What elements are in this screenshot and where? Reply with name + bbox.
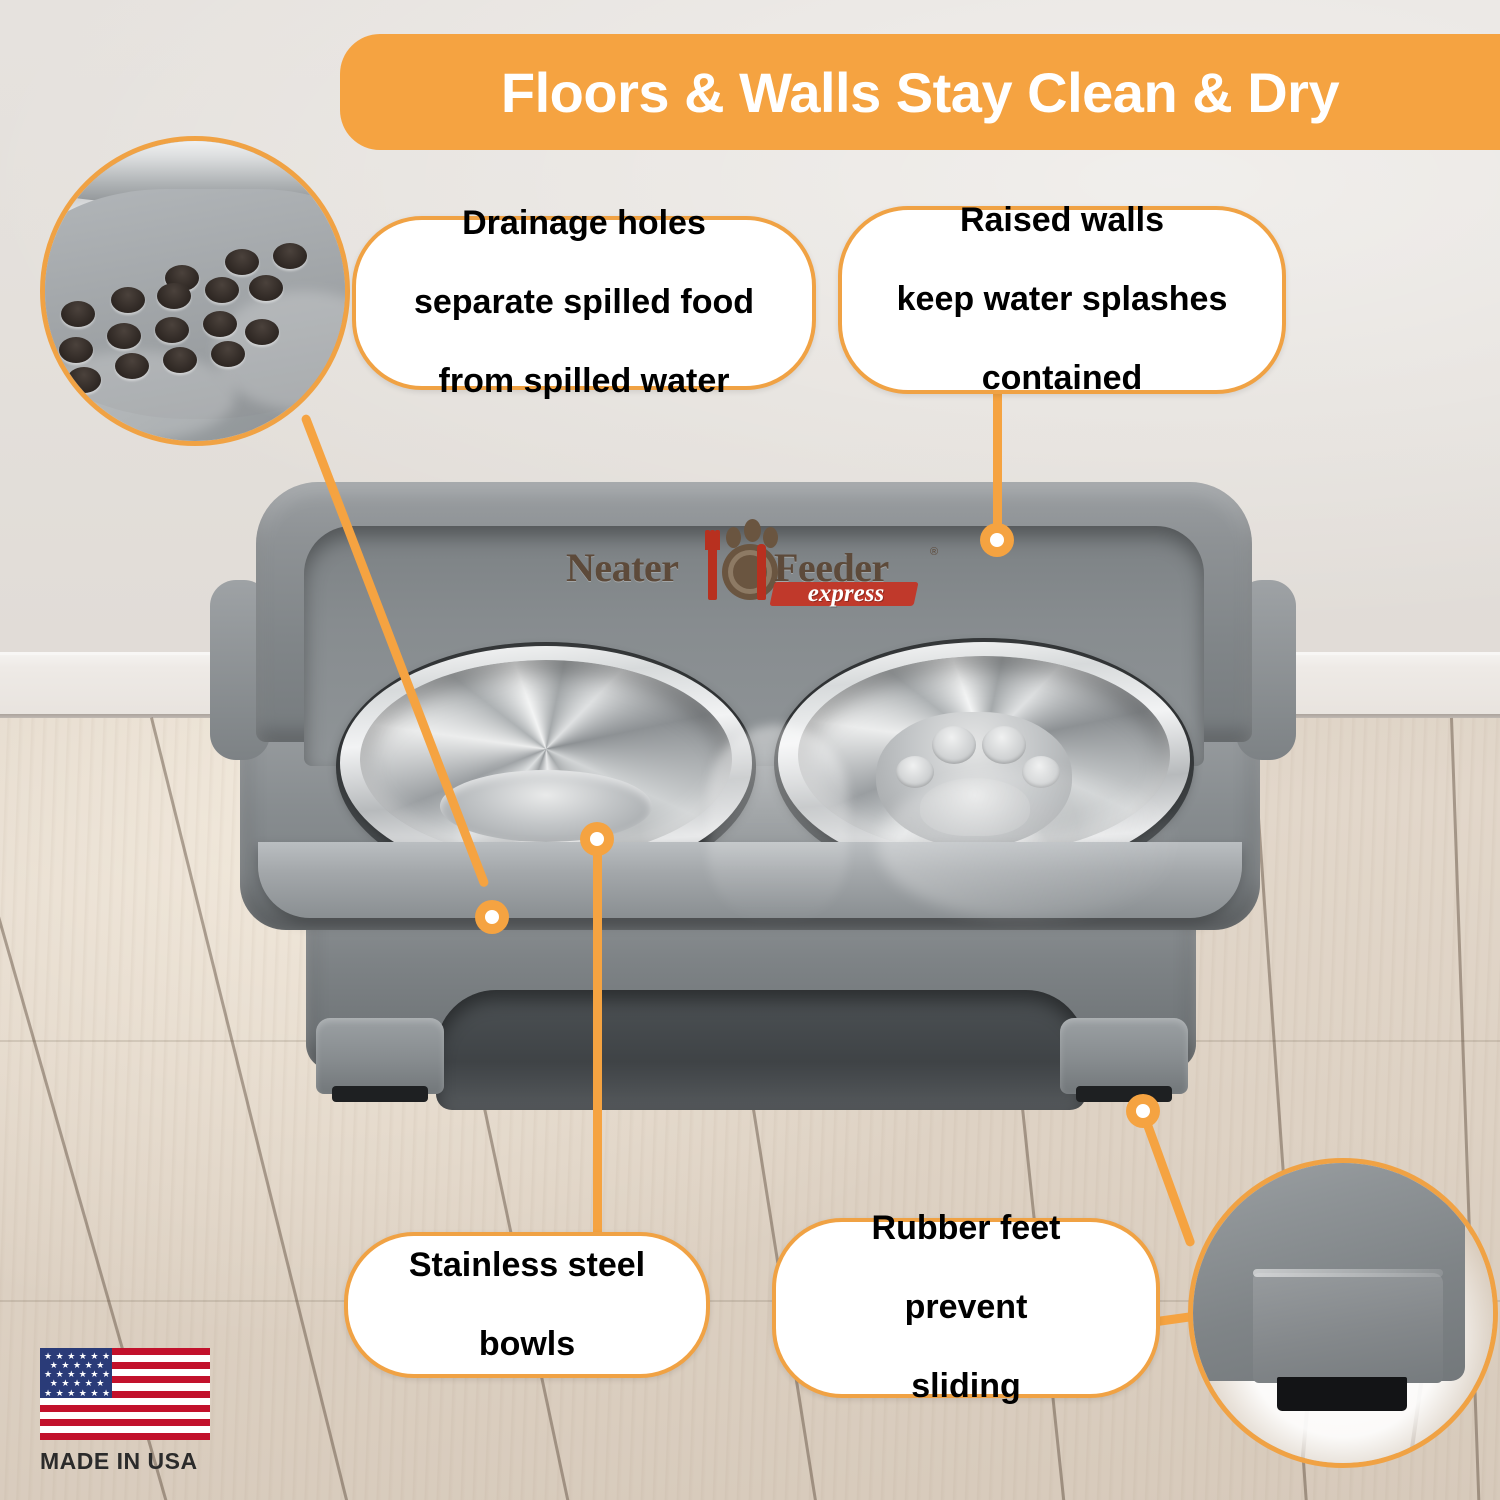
header-banner: Floors & Walls Stay Clean & Dry xyxy=(340,34,1500,150)
connector-dot-raised-walls xyxy=(980,523,1014,557)
callout-line: Rubber feet xyxy=(850,1209,1083,1248)
drainage-hole xyxy=(155,317,189,343)
flag-stripe xyxy=(40,1405,210,1412)
feeder-base-arch-shadow xyxy=(436,990,1086,1110)
callout-stainless-bowls[interactable]: Stainless steel bowls xyxy=(344,1232,710,1378)
drainage-hole xyxy=(225,249,259,275)
callout-line: from spilled water xyxy=(392,362,776,401)
inset-feeder-leg-front xyxy=(1253,1273,1443,1383)
drainage-hole xyxy=(111,287,145,313)
made-in-usa-label: MADE IN USA xyxy=(40,1448,218,1475)
flag-star: ★ xyxy=(56,1389,64,1398)
front-right-rubber-pad xyxy=(1076,1086,1172,1102)
front-right-foot xyxy=(1060,1018,1188,1094)
connector-dot-feet xyxy=(1126,1094,1160,1128)
rubber-foot-closeup-inset xyxy=(1188,1158,1498,1468)
callout-drainage-holes[interactable]: Drainage holes separate spilled food fro… xyxy=(352,216,816,390)
flag-star: ★ xyxy=(67,1389,75,1398)
drainage-hole xyxy=(115,353,149,379)
callout-line: separate spilled food xyxy=(392,283,776,322)
callout-line: prevent xyxy=(850,1288,1083,1327)
drainage-hole xyxy=(273,243,307,269)
callout-line: sliding xyxy=(850,1367,1083,1406)
drainage-holes-closeup-inset xyxy=(40,136,350,446)
drainage-hole xyxy=(59,337,93,363)
neater-feeder-logo: Neater Feeder ® express xyxy=(566,528,946,614)
callout-drainage-holes-text: Drainage holes separate spilled food fro… xyxy=(370,204,798,401)
inset-leg-edge-highlight xyxy=(1253,1269,1443,1277)
drainage-hole xyxy=(157,283,191,309)
header-banner-title: Floors & Walls Stay Clean & Dry xyxy=(501,60,1339,125)
drainage-hole xyxy=(211,341,245,367)
drainage-hole xyxy=(67,367,101,393)
connector-dot-drainage xyxy=(475,900,509,934)
feeder-highlight-2 xyxy=(878,770,1178,920)
paw-toe-2 xyxy=(932,726,976,764)
drainage-hole xyxy=(205,277,239,303)
drainage-hole xyxy=(203,311,237,337)
logo-paw-toe-1 xyxy=(726,527,741,548)
flag-star: ★ xyxy=(79,1389,87,1398)
callout-line: Raised walls xyxy=(875,201,1250,240)
drainage-hole xyxy=(249,275,283,301)
infographic-canvas: Neater Feeder ® express xyxy=(0,0,1500,1500)
logo-word-neater: Neater xyxy=(566,544,678,591)
callout-rubber-feet[interactable]: Rubber feet prevent sliding xyxy=(772,1218,1160,1398)
callout-line: contained xyxy=(875,359,1250,398)
paw-toe-3 xyxy=(982,726,1026,764)
callout-stainless-bowls-text: Stainless steel bowls xyxy=(365,1246,689,1364)
callout-line: bowls xyxy=(387,1325,667,1364)
front-left-foot xyxy=(316,1018,444,1094)
callout-line: keep water splashes xyxy=(875,280,1250,319)
connector-dot-bowls xyxy=(580,822,614,856)
fork-icon xyxy=(708,546,717,600)
callout-line: Stainless steel xyxy=(387,1246,667,1285)
callout-line: Drainage holes xyxy=(392,204,776,243)
registered-trademark-icon: ® xyxy=(930,546,938,558)
flag-star: ★ xyxy=(90,1389,98,1398)
flag-star: ★ xyxy=(102,1389,110,1398)
inset-rubber-foot-pad xyxy=(1277,1377,1407,1411)
drainage-hole xyxy=(163,347,197,373)
knife-icon xyxy=(757,544,766,600)
us-flag-icon: ★★★★★★★★★★★★★★★★★★★★★★★★★★★★ xyxy=(40,1348,210,1440)
feeder-highlight-1 xyxy=(708,725,848,925)
callout-raised-walls[interactable]: Raised walls keep water splashes contain… xyxy=(838,206,1286,394)
connector-bowls-line xyxy=(593,838,602,1238)
logo-word-express: express xyxy=(780,580,912,608)
flag-star: ★ xyxy=(44,1389,52,1398)
flag-stripe xyxy=(40,1419,210,1426)
callout-rubber-feet-text: Rubber feet prevent sliding xyxy=(828,1209,1105,1406)
front-left-rubber-pad xyxy=(332,1086,428,1102)
flag-stripe xyxy=(40,1433,210,1440)
callout-raised-walls-text: Raised walls keep water splashes contain… xyxy=(853,201,1272,398)
drainage-hole xyxy=(107,323,141,349)
paw-toe-1 xyxy=(896,756,934,788)
left-bowl-bottom xyxy=(440,770,652,842)
logo-paw-toe-2 xyxy=(744,519,761,542)
drainage-hole xyxy=(245,319,279,345)
made-in-usa-badge: ★★★★★★★★★★★★★★★★★★★★★★★★★★★★ MADE IN USA xyxy=(40,1348,226,1480)
drainage-hole xyxy=(61,301,95,327)
connector-raised-walls-line xyxy=(993,382,1002,544)
